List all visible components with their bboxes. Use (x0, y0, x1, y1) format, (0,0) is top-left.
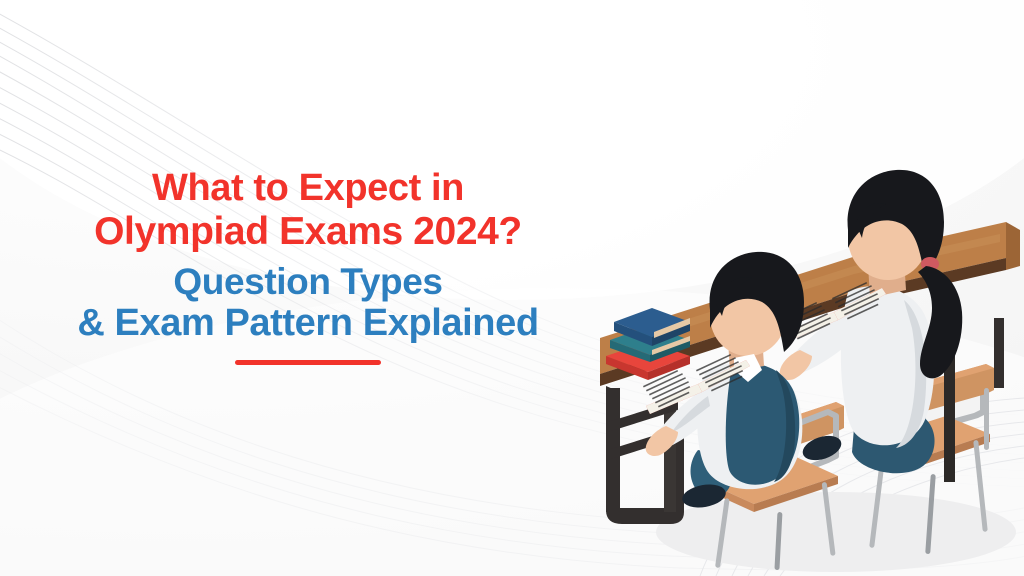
headline-line-2: Olympiad Exams 2024? (0, 211, 616, 254)
headline-line-4: & Exam Pattern Explained (0, 303, 616, 345)
promo-banner: What to Expect in Olympiad Exams 2024? Q… (0, 0, 1024, 576)
students-illustration (586, 160, 1024, 576)
headline-line-1: What to Expect in (0, 168, 616, 210)
headline-line-3: Question Types (0, 262, 616, 303)
desk-leg-frame-left (606, 386, 684, 524)
headline-divider-rule (235, 360, 381, 365)
girl-hand (780, 350, 812, 380)
headline-block: What to Expect in Olympiad Exams 2024? Q… (0, 168, 616, 365)
students-illustration-svg (586, 160, 1024, 576)
